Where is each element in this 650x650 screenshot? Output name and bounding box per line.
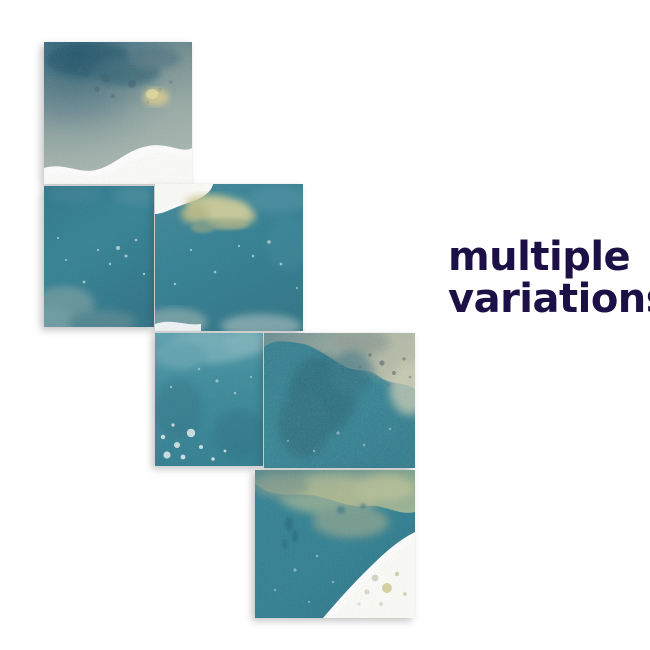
variation-tile-2[interactable] [44, 186, 154, 327]
poster-canvas: multiple variations [0, 0, 650, 650]
tile-6-artwork [255, 470, 415, 618]
tile-3-artwork [155, 184, 303, 331]
variation-tile-3[interactable] [155, 184, 303, 331]
tile-1-artwork [44, 42, 192, 184]
variation-tile-5[interactable] [264, 333, 415, 468]
variation-tile-6[interactable] [255, 470, 415, 618]
page-title-line-1: multiple [448, 236, 638, 278]
page-title-line-2: variations [448, 278, 638, 320]
tile-2-artwork [44, 186, 154, 327]
variation-tile-4[interactable] [155, 333, 263, 466]
tile-4-artwork [155, 333, 263, 466]
variation-tile-1[interactable] [44, 42, 192, 184]
page-title: multiple variations [448, 236, 638, 321]
tile-5-artwork [264, 333, 415, 468]
